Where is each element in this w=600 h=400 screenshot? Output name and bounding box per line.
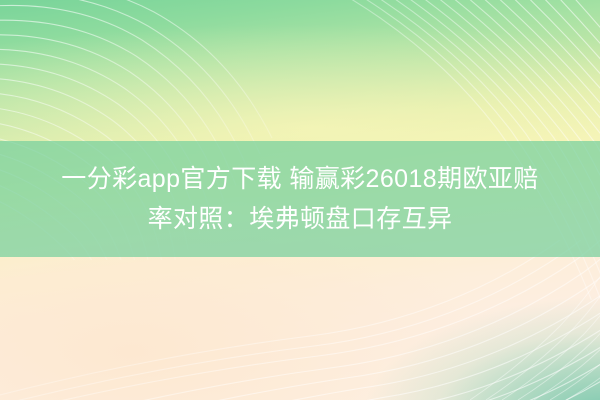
promo-banner: 一分彩app官方下载 输赢彩26018期欧亚赔 率对照：埃弗顿盘口存互异 bbox=[0, 0, 600, 400]
headline-line-1: 一分彩app官方下载 输赢彩26018期欧亚赔 bbox=[61, 159, 538, 199]
headline-line-2: 率对照：埃弗顿盘口存互异 bbox=[148, 199, 453, 239]
headline-band: 一分彩app官方下载 输赢彩26018期欧亚赔 率对照：埃弗顿盘口存互异 bbox=[0, 141, 600, 257]
